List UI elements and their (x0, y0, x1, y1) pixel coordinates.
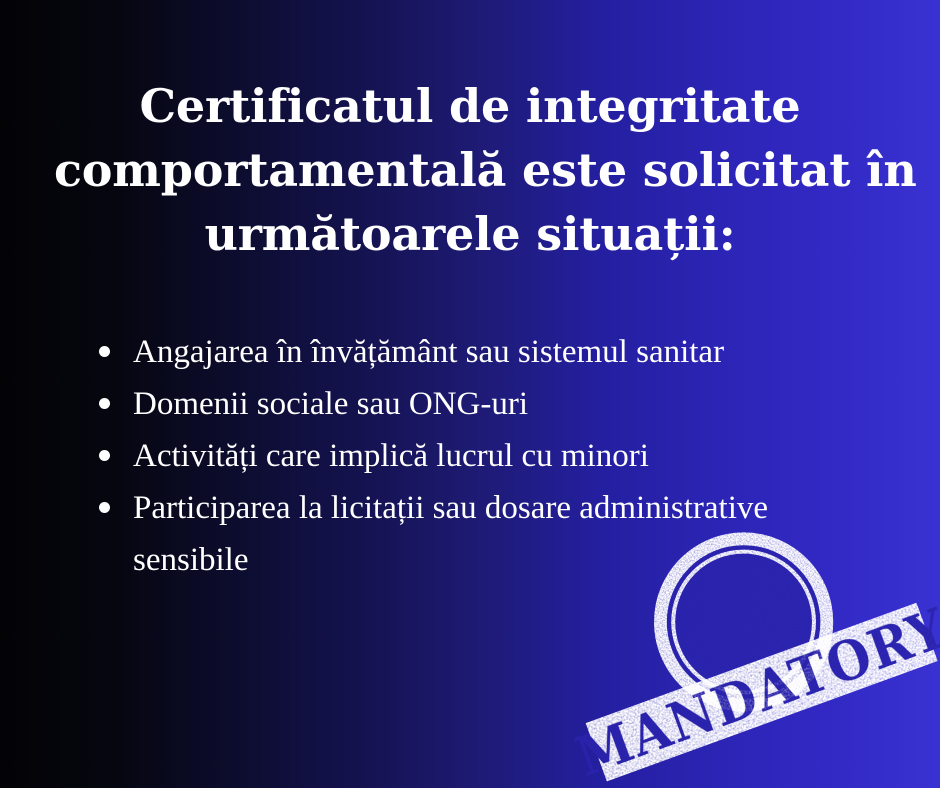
title-line-3: următoarele situații: (54, 202, 886, 266)
bullet-point-icon (99, 398, 110, 409)
page-title: Certificatul de integritate comportament… (0, 74, 940, 266)
list-item: Angajarea în învățământ sau sistemul san… (90, 326, 880, 378)
bullet-point-icon (99, 346, 110, 357)
list-item-label: Activități care implică lucrul cu minori (133, 438, 649, 474)
mandatory-stamp: MANDATORY (572, 578, 940, 788)
slide: Certificatul de integritate comportament… (0, 0, 940, 788)
list-item-label: Domenii sociale sau ONG-uri (133, 386, 528, 422)
stamp-banner: MANDATORY (568, 596, 940, 788)
bullet-point-icon (99, 502, 110, 513)
list-item-label: Participarea la licitații sau dosare adm… (133, 490, 768, 578)
list-item: Activități care implică lucrul cu minori (90, 430, 880, 482)
title-line-2: comportamentală este solicitat în (54, 138, 886, 202)
list-item: Domenii sociale sau ONG-uri (90, 378, 880, 430)
stamp-label: MANDATORY (568, 596, 940, 788)
title-line-1: Certificatul de integritate (54, 74, 886, 138)
bullet-point-icon (99, 450, 110, 461)
list-item: Participarea la licitații sau dosare adm… (90, 482, 880, 586)
situations-list: Angajarea în învățământ sau sistemul san… (90, 326, 880, 586)
list-item-label: Angajarea în învățământ sau sistemul san… (133, 334, 724, 370)
